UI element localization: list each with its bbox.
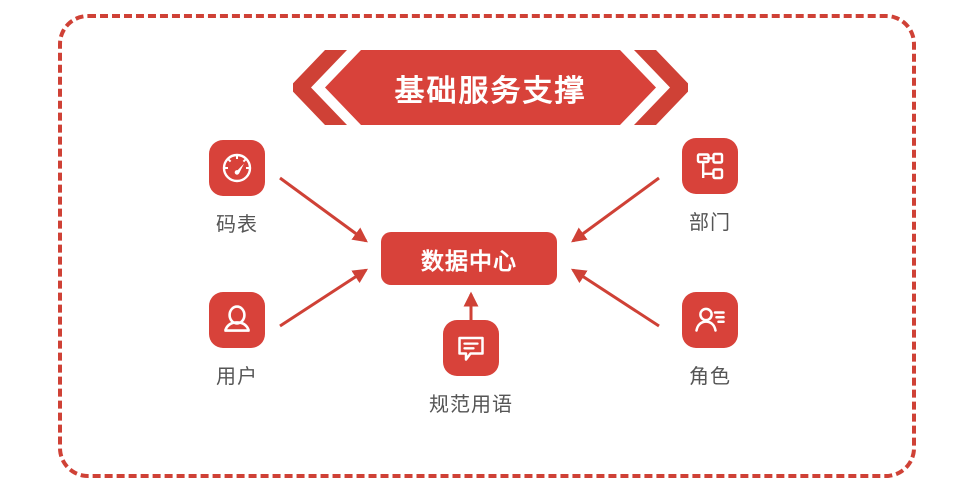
arrow-role-to-center	[573, 270, 659, 326]
data-center-label: 数据中心	[421, 242, 517, 276]
org-chart-icon-tile	[682, 138, 738, 194]
node-role[interactable]: 角色	[650, 292, 770, 389]
org-chart-icon	[692, 148, 728, 184]
node-code-table-label: 码表	[216, 208, 258, 237]
node-standard-phrase-label: 规范用语	[429, 388, 513, 417]
person-icon-tile	[209, 292, 265, 348]
arrow-department-to-center	[573, 178, 659, 241]
node-department[interactable]: 部门	[650, 138, 770, 235]
node-role-label: 角色	[689, 360, 731, 389]
person-lines-icon	[692, 302, 728, 338]
person-lines-icon-tile	[682, 292, 738, 348]
gauge-icon	[219, 150, 255, 186]
person-icon	[219, 302, 255, 338]
node-code-table[interactable]: 码表	[177, 140, 297, 237]
node-department-label: 部门	[689, 206, 731, 235]
gauge-icon-tile	[209, 140, 265, 196]
data-center-node[interactable]: 数据中心	[381, 232, 557, 285]
diagram-canvas: 基础服务支撑 数据中心	[0, 0, 974, 501]
speech-bubble-icon	[453, 330, 489, 366]
node-standard-phrase[interactable]: 规范用语	[411, 320, 531, 417]
node-user-label: 用户	[216, 360, 258, 389]
speech-bubble-icon-tile	[443, 320, 499, 376]
node-user[interactable]: 用户	[177, 292, 297, 389]
